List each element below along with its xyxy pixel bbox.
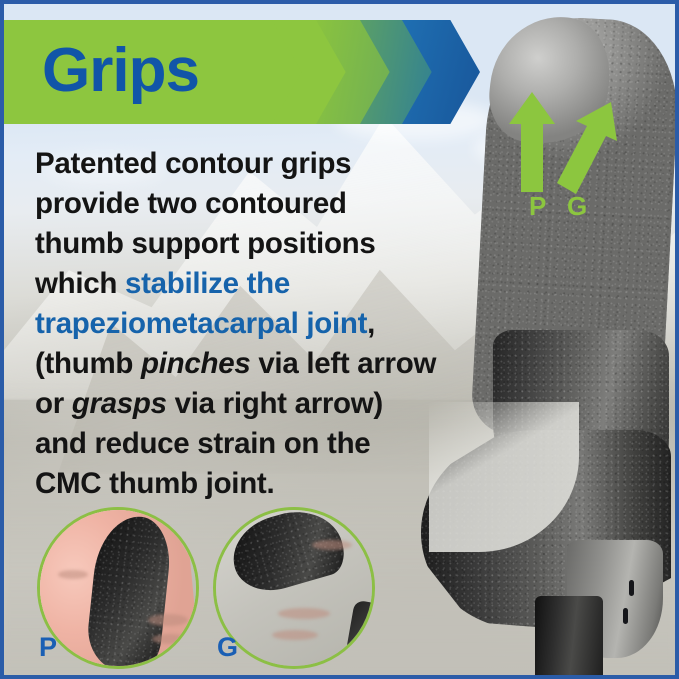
inset-photo-pinch — [37, 507, 199, 669]
copy-line-9: CMC thumb joint. — [35, 464, 475, 504]
header-banner: Grips — [4, 20, 456, 124]
copy-line-4-plain: which — [35, 267, 125, 300]
height-adjust-hole-2 — [623, 608, 628, 624]
copy-line-2: provide two contoured — [35, 184, 475, 224]
infographic-canvas: P G Grips Patented contour grips provide… — [0, 0, 679, 679]
copy-line-7-italic: grasps — [72, 387, 167, 420]
body-paragraph: Patented contour grips provide two conto… — [35, 144, 475, 504]
copy-line-7-a: or — [35, 387, 72, 420]
inset-pinch-crease-1 — [148, 614, 188, 626]
copy-line-8: and reduce strain on the — [35, 424, 475, 464]
copy-line-7: or grasps via right arrow) — [35, 384, 475, 424]
copy-line-5-tail: , — [367, 307, 375, 340]
inset-pinch-crease-2 — [152, 634, 188, 644]
inset-grasp-crease-3 — [312, 540, 352, 550]
inset-grasp-crease-2 — [272, 630, 318, 640]
copy-line-4: which stabilize the — [35, 264, 475, 304]
copy-line-6-b: via left arrow — [250, 347, 436, 380]
copy-line-6-a: (thumb — [35, 347, 141, 380]
copy-line-4-highlight: stabilize the — [125, 267, 290, 300]
copy-line-1: Patented contour grips — [35, 144, 475, 184]
copy-line-3: thumb support positions — [35, 224, 475, 264]
cane-shaft — [535, 596, 603, 679]
inset-grasp-crease-1 — [278, 608, 330, 619]
grasp-arrow-label: G — [567, 193, 587, 219]
inset-grasp-label: G — [217, 634, 238, 661]
copy-line-5: trapeziometacarpal joint, — [35, 304, 475, 344]
pinch-arrow-label: P — [529, 193, 546, 219]
copy-line-6: (thumb pinches via left arrow — [35, 344, 475, 384]
copy-line-7-b: via right arrow) — [167, 387, 383, 420]
copy-line-6-italic: pinches — [141, 347, 250, 380]
copy-line-5-highlight: trapeziometacarpal joint — [35, 307, 367, 340]
inset-pinch-label: P — [39, 634, 57, 661]
height-adjust-hole-1 — [629, 580, 634, 596]
inset-pinch-crease-3 — [58, 570, 88, 579]
banner-title: Grips — [42, 40, 199, 102]
